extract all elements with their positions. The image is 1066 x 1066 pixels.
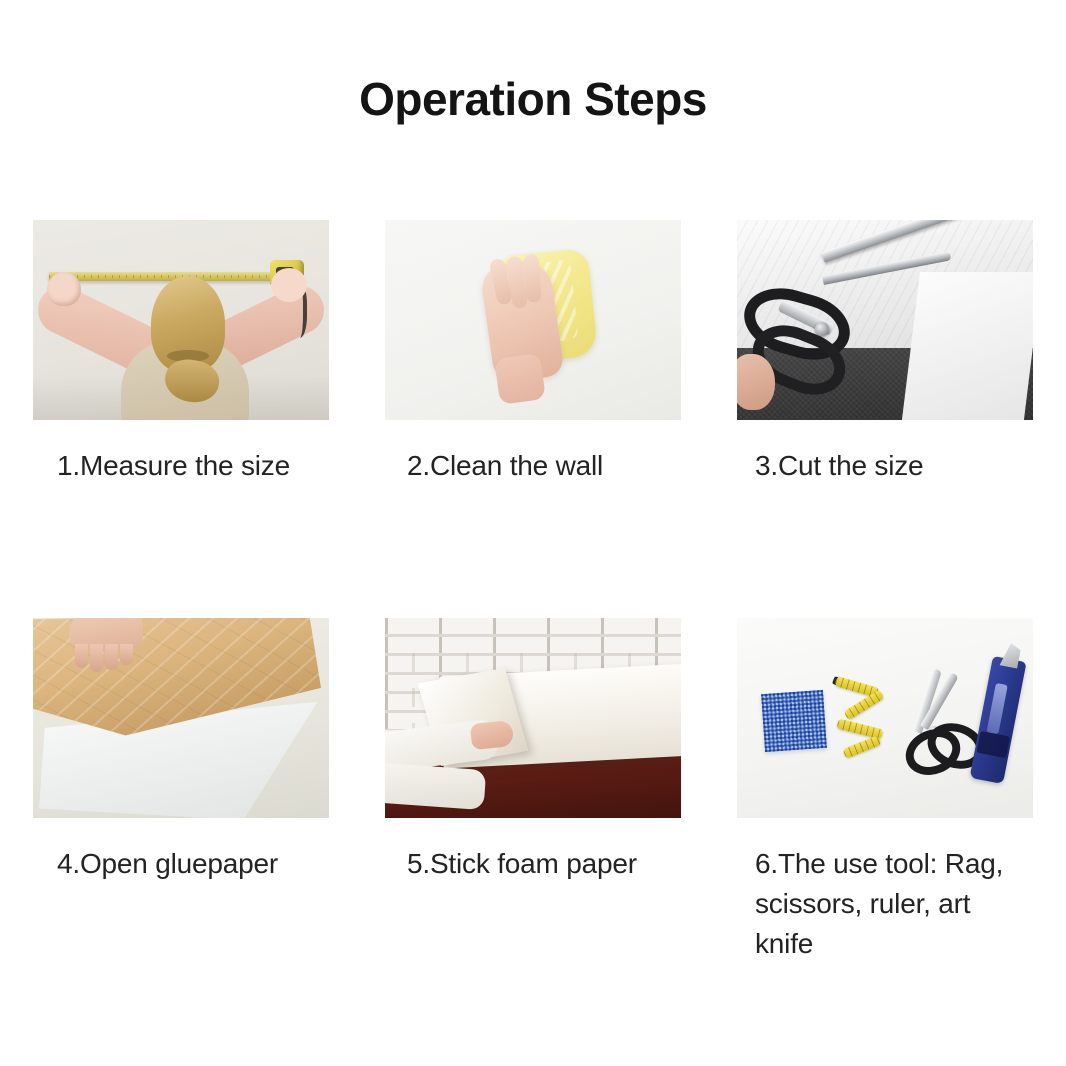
finger	[105, 644, 118, 670]
step-card-4: 4.Open gluepaper	[33, 618, 329, 884]
clean-the-wall-photo	[385, 220, 681, 420]
step-caption-1: 1.Measure the size	[33, 446, 329, 486]
finger	[75, 644, 88, 668]
step-card-3: 3.Cut the size	[737, 220, 1033, 486]
step-card-5: 5.Stick foam paper	[385, 618, 681, 884]
tape-measure-blade	[49, 272, 293, 281]
step-caption-2: 2.Clean the wall	[385, 446, 681, 486]
yellow-measuring-tape	[833, 680, 887, 764]
stick-foam-paper-photo	[385, 618, 681, 818]
blue-checkered-rag	[761, 690, 827, 752]
open-gluepaper-photo	[33, 618, 329, 818]
use-tool-photo	[737, 618, 1033, 818]
hair	[151, 276, 225, 372]
art-knife	[969, 656, 1026, 784]
scissors	[901, 668, 971, 772]
operation-steps-page: Operation Steps	[0, 0, 1066, 1066]
measure-the-size-photo	[33, 220, 329, 420]
step-caption-4: 4.Open gluepaper	[33, 844, 329, 884]
steps-row-bottom: 4.Open gluepaper 5.Stick foam paper	[33, 618, 1033, 1016]
tape-ticks	[49, 275, 293, 278]
thumb	[737, 354, 775, 410]
left-hand	[47, 272, 81, 306]
foam-sheet-flap	[902, 272, 1033, 420]
right-hand	[271, 268, 307, 302]
knife-grip	[976, 731, 1010, 758]
finger	[120, 644, 133, 665]
step-caption-5: 5.Stick foam paper	[385, 844, 681, 884]
step-caption-3: 3.Cut the size	[737, 446, 1033, 486]
steps-row-top: 1.Measure the size 2.Clean the wall	[33, 220, 1033, 618]
step-caption-6: 6.The use tool: Rag, scissors, ruler, ar…	[737, 844, 1033, 963]
knife-blade	[999, 642, 1021, 669]
steps-grid: 1.Measure the size 2.Clean the wall	[33, 220, 1033, 1016]
step-card-6: 6.The use tool: Rag, scissors, ruler, ar…	[737, 618, 1033, 963]
step-card-1: 1.Measure the size	[33, 220, 329, 486]
wrist	[494, 353, 546, 405]
finger	[90, 644, 103, 672]
page-title: Operation Steps	[0, 72, 1066, 126]
lower-arm-sleeve	[385, 762, 486, 810]
step-card-2: 2.Clean the wall	[385, 220, 681, 486]
tape-segment	[843, 735, 882, 759]
knife-slider	[986, 683, 1007, 734]
cut-the-size-photo	[737, 220, 1033, 420]
